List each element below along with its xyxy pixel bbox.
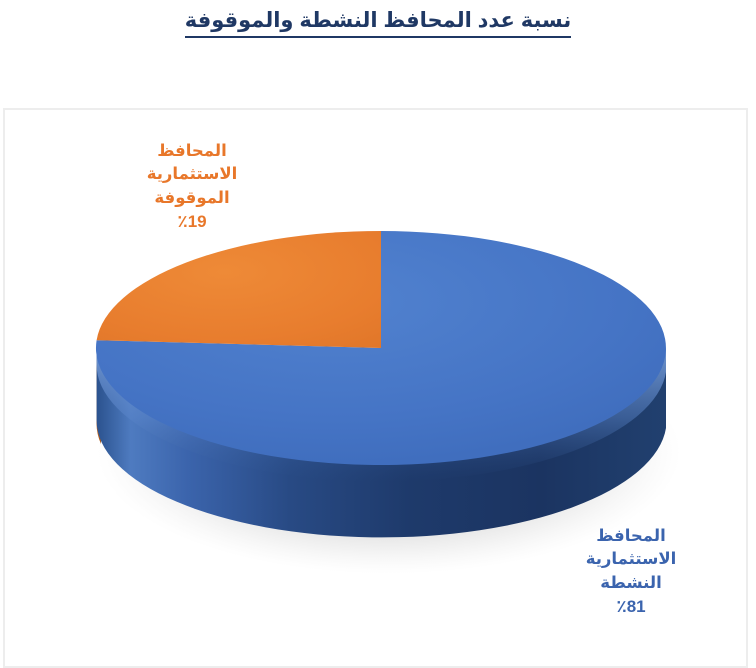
page-title: نسبة عدد المحافظ النشطة والموقوفة [0,8,756,38]
data-label-stopped-line3: الموقوفة [154,189,229,207]
data-label-active-line3: النشطة [600,574,661,592]
data-label-stopped-portfolios: المحافظ الاستثمارية الموقوفة ٪19 [112,140,272,234]
data-label-stopped-line1: المحافظ [157,142,226,160]
data-label-active-line2: الاستثمارية [586,550,677,568]
data-label-stopped-line2: الاستثمارية [147,165,238,183]
data-label-active-line1: المحافظ [596,527,665,545]
chart-title-text: نسبة عدد المحافظ النشطة والموقوفة [185,8,572,38]
data-label-active-portfolios: المحافظ الاستثمارية النشطة ٪81 [546,525,716,619]
data-label-stopped-percent: ٪19 [112,210,272,234]
data-label-active-percent: ٪81 [546,595,716,619]
